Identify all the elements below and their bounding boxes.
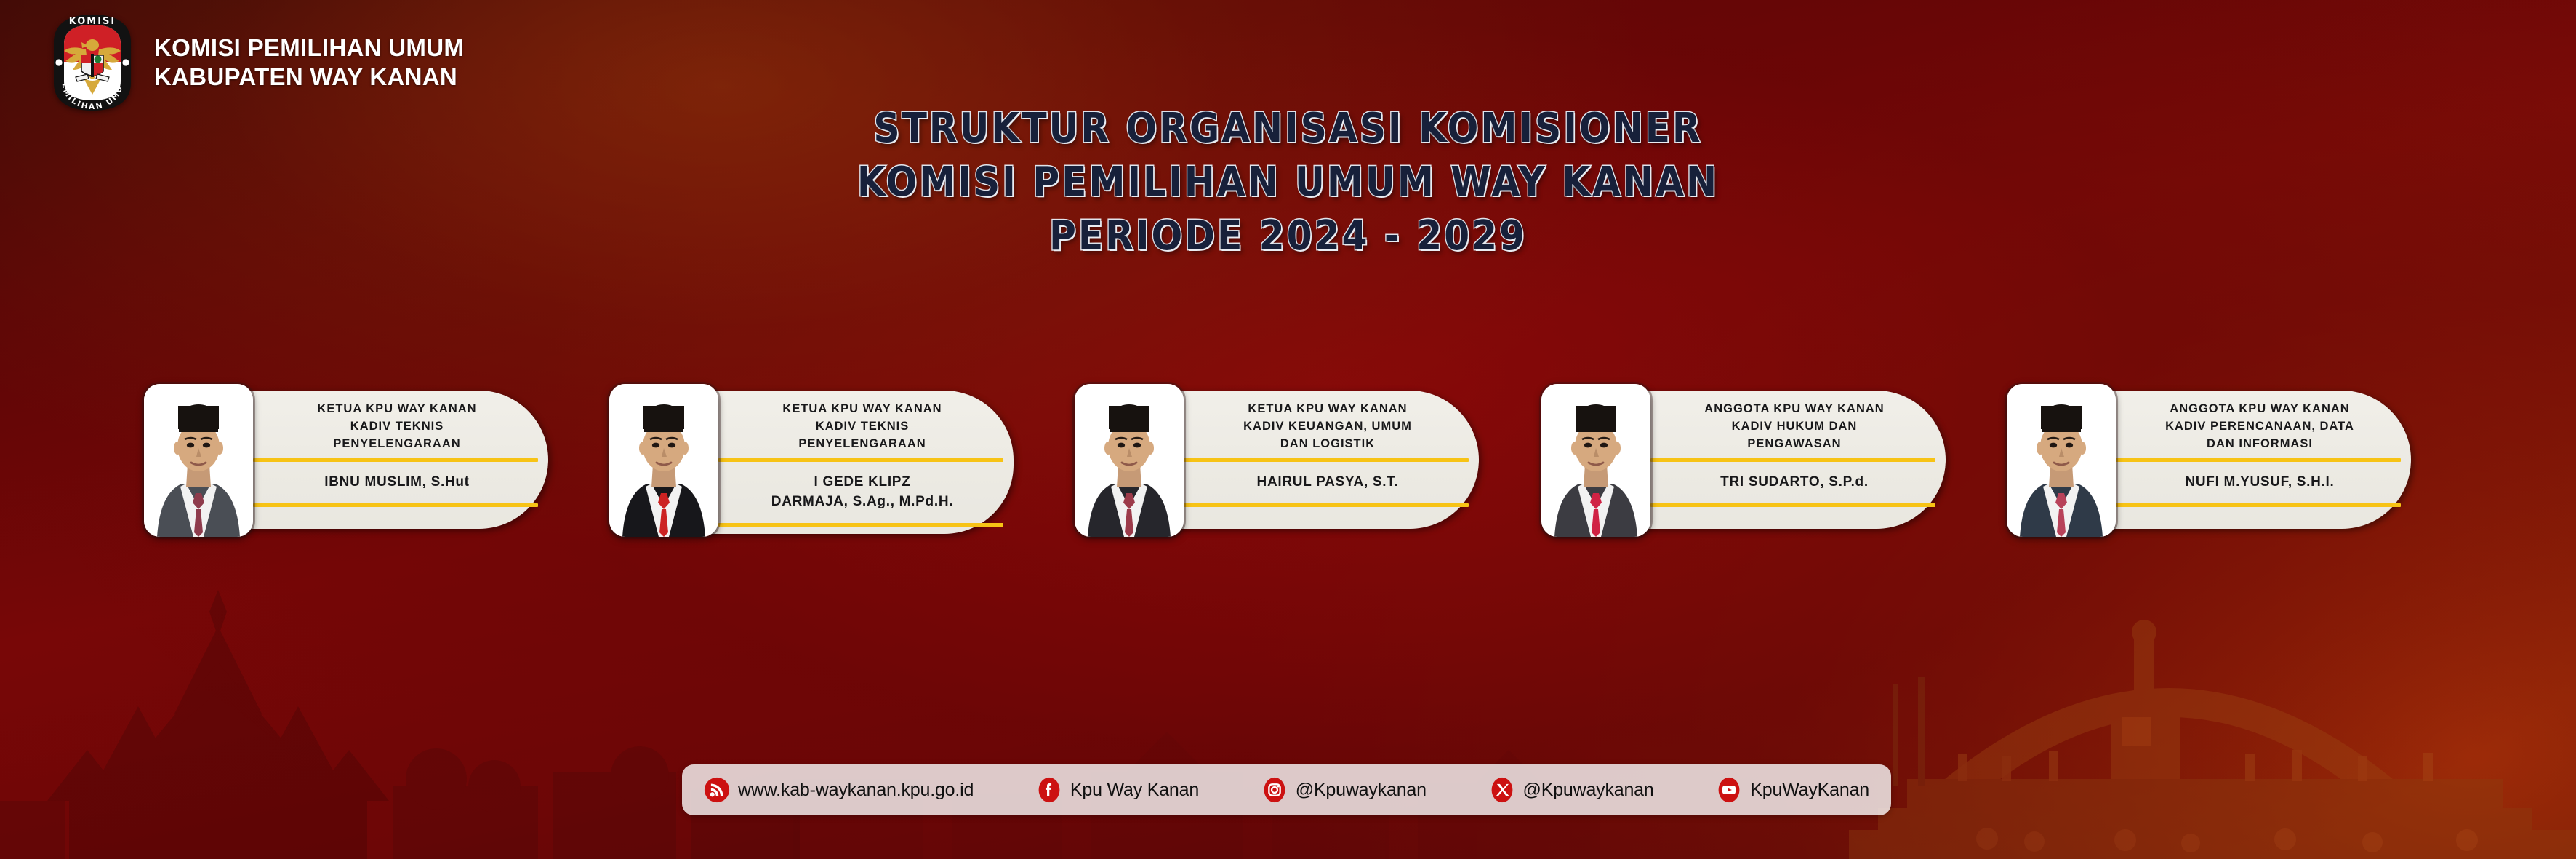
- commissioner-card[interactable]: KETUA KPU WAY KANANKADIV TEKNISPENYELENG…: [609, 380, 1016, 537]
- commissioner-role-line: KETUA KPU WAY KANAN: [270, 401, 523, 418]
- commissioner-name: IBNU MUSLIM, S.Hut: [268, 473, 526, 492]
- commissioner-name-line: NUFI M.YUSUF, S.H.I.: [2132, 473, 2388, 492]
- portrait-photo-graphic: [144, 384, 253, 537]
- youtube-icon-graphic: [1716, 777, 1742, 803]
- commissioner-name: I GEDE KLIPZDARMAJA, S.Ag., M.Pd.H.: [733, 473, 992, 512]
- commissioner-photo: [609, 384, 718, 537]
- divider-rule-bottom: [718, 523, 1003, 527]
- commissioner-role-line: PENYELENGARAAN: [736, 436, 989, 453]
- skyline-silhouette-left: [0, 568, 800, 859]
- facebook-icon[interactable]: [1036, 777, 1062, 803]
- divider-rule-top: [718, 458, 1003, 462]
- kpu-garuda-logo-icon: KOMISI PEMILIHAN UMUM: [47, 13, 138, 112]
- commissioner-role-line: ANGGOTA KPU WAY KANAN: [2133, 401, 2386, 418]
- organization-name: KOMISI PEMILIHAN UMUM KABUPATEN WAY KANA…: [154, 34, 464, 92]
- commissioner-info-panel: ANGGOTA KPU WAY KANANKADIV HUKUM DANPENG…: [1640, 391, 1946, 529]
- commissioner-name-line: I GEDE KLIPZ: [734, 473, 990, 492]
- contact-item-youtube[interactable]: KpuWayKanan: [1716, 777, 1869, 803]
- commissioner-role: KETUA KPU WAY KANANKADIV TEKNISPENYELENG…: [268, 401, 526, 453]
- commissioner-role-line: ANGGOTA KPU WAY KANAN: [1668, 401, 1921, 418]
- commissioner-card[interactable]: KETUA KPU WAY KANANKADIV TEKNISPENYELENG…: [144, 380, 551, 537]
- commissioner-card[interactable]: KETUA KPU WAY KANANKADIV KEUANGAN, UMUMD…: [1075, 380, 1482, 537]
- commissioner-photo: [1541, 384, 1650, 537]
- commissioner-role: KETUA KPU WAY KANANKADIV KEUANGAN, UMUMD…: [1198, 401, 1457, 453]
- org-name-line2: KABUPATEN WAY KANAN: [154, 63, 464, 91]
- banner-root: KOMISI PEMILIHAN UMUM KOMISI PEMILIHAN U…: [0, 0, 2576, 859]
- commissioner-role-line: DAN INFORMASI: [2133, 436, 2386, 453]
- commissioner-name: HAIRUL PASYA, S.T.: [1198, 473, 1457, 492]
- portrait-photo-graphic: [2007, 384, 2116, 537]
- monument-silhouette-right: [1849, 568, 2576, 859]
- commissioner-name-line: TRI SUDARTO, S.P.d.: [1666, 473, 1922, 492]
- contact-label: @Kpuwaykanan: [1523, 780, 1654, 801]
- commissioner-info-panel: KETUA KPU WAY KANANKADIV TEKNISPENYELENG…: [243, 391, 548, 529]
- commissioner-role-line: PENGAWASAN: [1668, 436, 1921, 453]
- contact-label: @Kpuwaykanan: [1296, 780, 1427, 801]
- commissioner-role-line: KADIV PERENCANAAN, DATA: [2133, 418, 2386, 436]
- divider-rule-top: [1650, 458, 1935, 462]
- divider-rule-bottom: [253, 503, 538, 507]
- commissioner-name-line: DARMAJA, S.Ag., M.Pd.H.: [734, 492, 990, 512]
- commissioner-role-line: KETUA KPU WAY KANAN: [736, 401, 989, 418]
- commissioner-name: NUFI M.YUSUF, S.H.I.: [2130, 473, 2389, 492]
- svg-text:KOMISI: KOMISI: [69, 16, 116, 27]
- page-title: STRUKTUR ORGANISASI KOMISIONER KOMISI PE…: [0, 102, 2576, 263]
- header-block: KOMISI PEMILIHAN UMUM KOMISI PEMILIHAN U…: [47, 13, 464, 112]
- x-twitter-icon-graphic: [1489, 777, 1515, 803]
- contact-footer-bar: www.kab-waykanan.kpu.go.id Kpu Way Kanan…: [682, 764, 1891, 815]
- commissioner-info-panel: KETUA KPU WAY KANANKADIV KEUANGAN, UMUMD…: [1173, 391, 1479, 529]
- commissioner-info-panel: KETUA KPU WAY KANANKADIV TEKNISPENYELENG…: [708, 391, 1014, 534]
- commissioner-photo: [144, 384, 253, 537]
- contact-item-rss[interactable]: www.kab-waykanan.kpu.go.id: [704, 777, 974, 803]
- commissioner-role: KETUA KPU WAY KANANKADIV TEKNISPENYELENG…: [733, 401, 992, 453]
- portrait-photo-graphic: [609, 384, 718, 537]
- contact-label: www.kab-waykanan.kpu.go.id: [738, 780, 974, 801]
- commissioner-info-panel: ANGGOTA KPU WAY KANANKADIV PERENCANAAN, …: [2106, 391, 2411, 529]
- rss-icon[interactable]: [704, 777, 730, 803]
- commissioner-role-line: PENYELENGARAAN: [270, 436, 523, 453]
- instagram-icon-graphic: [1261, 777, 1288, 803]
- portrait-photo-graphic: [1541, 384, 1650, 537]
- commissioner-role-line: KETUA KPU WAY KANAN: [1201, 401, 1454, 418]
- commissioner-photo: [2007, 384, 2116, 537]
- skyline-silhouette-mid: [763, 641, 1636, 859]
- commissioner-card[interactable]: ANGGOTA KPU WAY KANANKADIV PERENCANAAN, …: [2007, 380, 2414, 537]
- headline-line1: STRUKTUR ORGANISASI KOMISIONER: [129, 102, 2447, 156]
- youtube-icon[interactable]: [1716, 777, 1742, 803]
- commissioner-card-list: KETUA KPU WAY KANANKADIV TEKNISPENYELENG…: [0, 380, 2576, 548]
- commissioner-photo: [1075, 384, 1184, 537]
- commissioner-role: ANGGOTA KPU WAY KANANKADIV PERENCANAAN, …: [2130, 401, 2389, 453]
- org-name-line1: KOMISI PEMILIHAN UMUM: [154, 34, 464, 62]
- divider-rule-bottom: [1184, 503, 1469, 507]
- portrait-photo-graphic: [1075, 384, 1184, 537]
- commissioner-role-line: KADIV HUKUM DAN: [1668, 418, 1921, 436]
- divider-rule-bottom: [1650, 503, 1935, 507]
- contact-label: KpuWayKanan: [1750, 780, 1869, 801]
- contact-item-x-twitter[interactable]: @Kpuwaykanan: [1489, 777, 1654, 803]
- commissioner-role-line: KADIV KEUANGAN, UMUM: [1201, 418, 1454, 436]
- contact-label: Kpu Way Kanan: [1070, 780, 1199, 801]
- divider-rule-top: [253, 458, 538, 462]
- commissioner-name-line: HAIRUL PASYA, S.T.: [1200, 473, 1456, 492]
- rss-icon-graphic: [704, 777, 730, 803]
- commissioner-name-line: IBNU MUSLIM, S.Hut: [269, 473, 525, 492]
- commissioner-card[interactable]: ANGGOTA KPU WAY KANANKADIV HUKUM DANPENG…: [1541, 380, 1949, 537]
- divider-rule-bottom: [2116, 503, 2401, 507]
- contact-item-facebook[interactable]: Kpu Way Kanan: [1036, 777, 1199, 803]
- facebook-icon-graphic: [1036, 777, 1062, 803]
- commissioner-role-line: DAN LOGISTIK: [1201, 436, 1454, 453]
- commissioner-role-line: KADIV TEKNIS: [736, 418, 989, 436]
- commissioner-name: TRI SUDARTO, S.P.d.: [1665, 473, 1924, 492]
- x-twitter-icon[interactable]: [1489, 777, 1515, 803]
- headline-line2: KOMISI PEMILIHAN UMUM WAY KANAN: [129, 156, 2447, 209]
- commissioner-role-line: KADIV TEKNIS: [270, 418, 523, 436]
- headline-line3: PERIODE 2024 - 2029: [129, 209, 2447, 263]
- commissioner-role: ANGGOTA KPU WAY KANANKADIV HUKUM DANPENG…: [1665, 401, 1924, 453]
- instagram-icon[interactable]: [1261, 777, 1288, 803]
- contact-item-instagram[interactable]: @Kpuwaykanan: [1261, 777, 1427, 803]
- divider-rule-top: [2116, 458, 2401, 462]
- divider-rule-top: [1184, 458, 1469, 462]
